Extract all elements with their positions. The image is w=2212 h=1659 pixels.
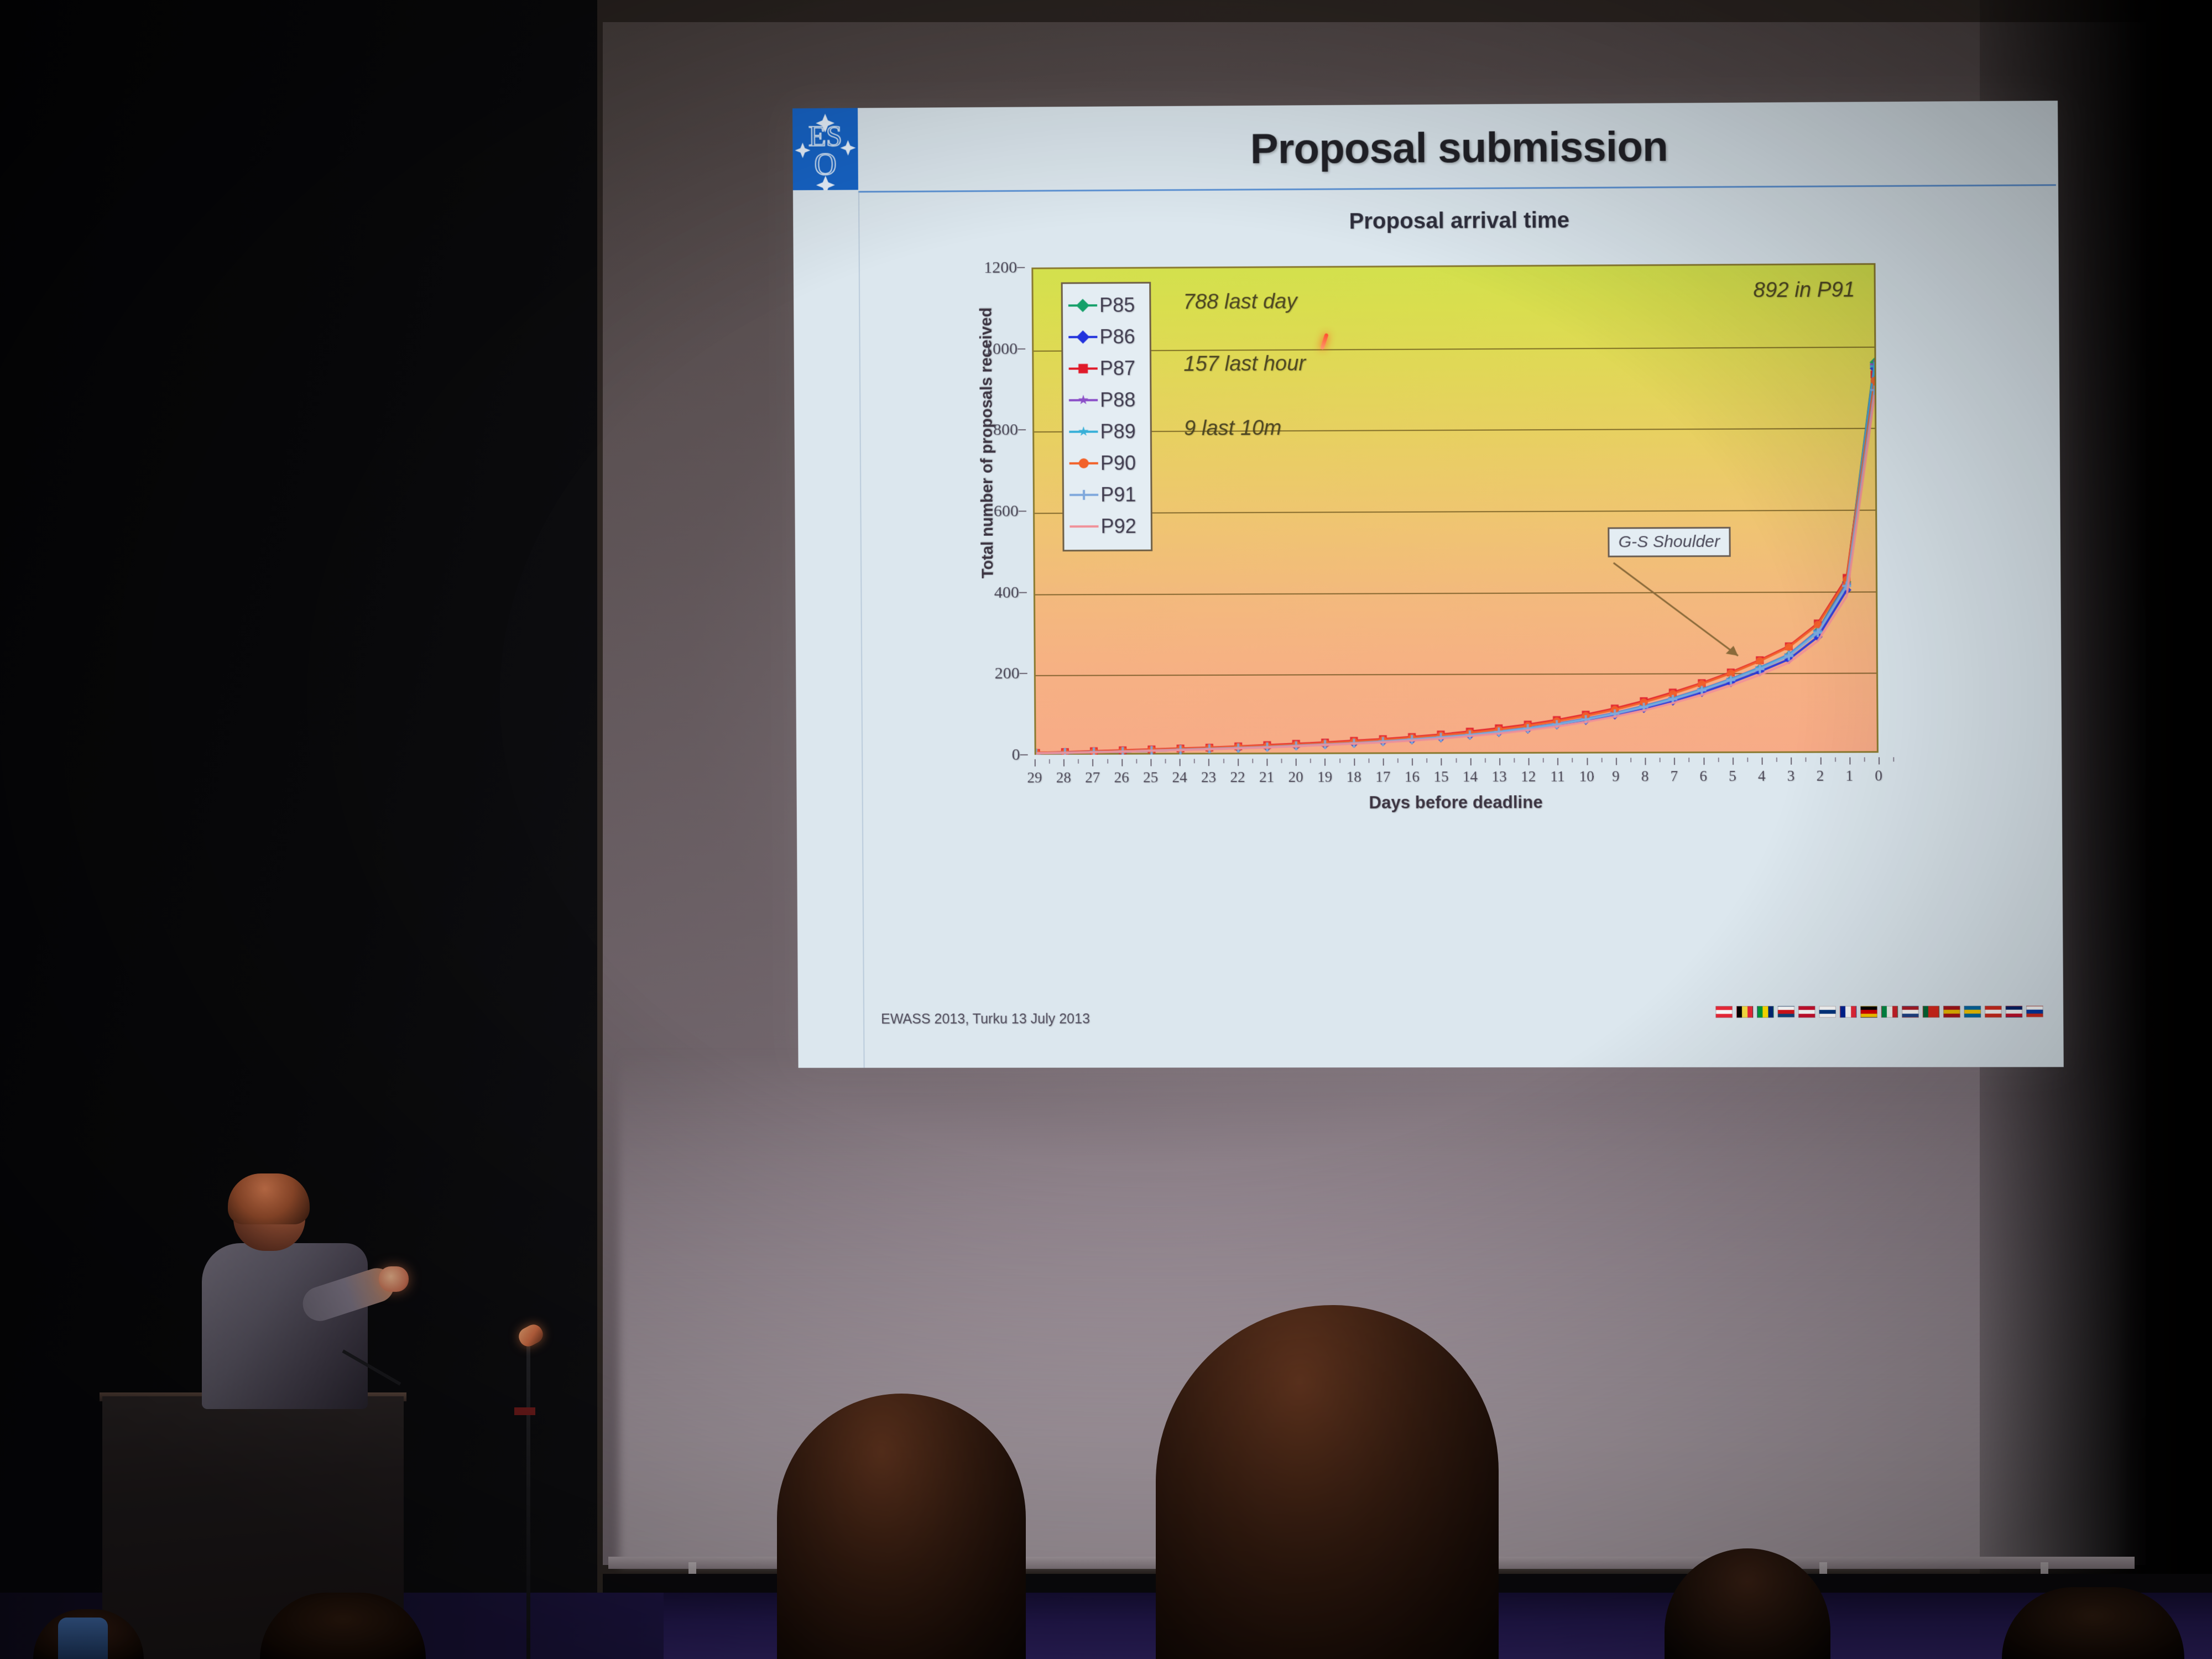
x-tick-mark	[1296, 759, 1297, 766]
y-tick-label: 400	[994, 583, 1019, 602]
series-line-p90	[1034, 380, 1877, 753]
x-tick-mark	[1587, 758, 1588, 765]
x-tick-mark	[1354, 759, 1355, 766]
x-tick-mark	[1035, 759, 1036, 766]
y-tick-mark	[1020, 754, 1028, 755]
x-tick-mark	[1441, 758, 1442, 765]
flag-spain	[1943, 1006, 1960, 1018]
x-tick-mark-minor	[1689, 758, 1690, 762]
x-tick-mark	[1791, 758, 1792, 765]
x-tick-label: 17	[1375, 768, 1390, 785]
x-tick-label: 4	[1758, 768, 1766, 785]
x-tick-mark	[1645, 758, 1646, 765]
x-tick-mark-minor	[1165, 759, 1166, 763]
page-title: Proposal submission	[875, 105, 2046, 190]
chart-area: Total number of proposals received 02004…	[959, 263, 1989, 921]
x-tick-mark	[1412, 758, 1413, 765]
chart-title: Proposal arrival time	[876, 205, 2046, 237]
x-tick-mark-minor	[1252, 759, 1253, 763]
x-tick-mark-minor	[1397, 758, 1399, 763]
audience-head	[1156, 1305, 1499, 1659]
x-tick-mark	[1238, 759, 1239, 766]
x-tick-mark-minor	[1660, 758, 1661, 762]
x-tick-mark	[1470, 758, 1471, 765]
x-tick-label: 22	[1230, 769, 1245, 786]
x-tick-mark	[1674, 758, 1675, 765]
x-tick-label: 19	[1317, 769, 1332, 786]
x-axis-ticks: 2928272625242322212019181716151413121110…	[1035, 757, 1879, 787]
x-tick-mark	[1703, 758, 1704, 765]
x-tick-label: 7	[1671, 768, 1678, 785]
y-tick-label: 1200	[984, 258, 1017, 277]
x-tick-mark	[1180, 759, 1181, 766]
x-tick-mark-minor	[1368, 759, 1369, 763]
x-tick-mark-minor	[1426, 758, 1427, 763]
microphone-stand	[526, 1333, 530, 1659]
flag-austria	[1715, 1006, 1732, 1018]
x-tick-mark	[1121, 759, 1123, 766]
x-tick-mark-minor	[1310, 759, 1311, 763]
series-marker	[1756, 657, 1764, 665]
x-tick-mark-minor	[1136, 759, 1137, 764]
x-tick-mark-minor	[1806, 758, 1807, 762]
x-tick-label: 6	[1699, 768, 1707, 785]
x-tick-mark	[1616, 758, 1617, 765]
y-tick-label: 600	[994, 502, 1019, 520]
x-tick-mark-minor	[1107, 759, 1108, 764]
x-tick-mark-minor	[1194, 759, 1195, 763]
flag-switzerland	[1985, 1006, 2002, 1018]
x-tick-label: 25	[1143, 769, 1158, 786]
x-tick-label: 1	[1845, 768, 1853, 785]
x-tick-mark-minor	[1776, 758, 1777, 762]
x-tick-mark	[1499, 758, 1500, 765]
y-tick-mark	[1018, 348, 1025, 349]
x-tick-label: 16	[1405, 768, 1420, 785]
eso-logo: ES O	[792, 108, 858, 190]
x-tick-mark-minor	[1864, 757, 1865, 761]
series-line-p92	[1034, 395, 1877, 753]
y-tick-mark	[1020, 673, 1027, 674]
x-tick-label: 13	[1491, 768, 1506, 785]
x-tick-mark-minor	[1601, 758, 1602, 762]
x-tick-label: 27	[1085, 769, 1100, 786]
x-tick-mark-minor	[1514, 758, 1515, 763]
y-tick-mark	[1019, 592, 1027, 593]
flag-germany	[1860, 1006, 1877, 1018]
eso-logo-mark: ES O	[792, 108, 858, 190]
x-tick-mark-minor	[1835, 757, 1836, 761]
microphone-stand-clip	[514, 1407, 535, 1415]
water-bottle	[58, 1618, 108, 1659]
y-tick-label: 0	[1011, 745, 1020, 764]
flag-czechia	[1778, 1006, 1794, 1018]
gs-shoulder-callout: G-S Shoulder	[1608, 527, 1730, 557]
series-line-p87	[1034, 374, 1877, 753]
speaker-torso	[202, 1243, 368, 1409]
left-divider	[858, 191, 865, 1068]
series-line-p86	[1034, 368, 1876, 753]
audience-head	[777, 1394, 1026, 1659]
x-tick-mark-minor	[1893, 757, 1894, 761]
slide-footer: EWASS 2013, Turku 13 July 2013	[881, 1011, 1090, 1027]
x-tick-label: 5	[1729, 768, 1736, 785]
x-tick-mark-minor	[1281, 759, 1282, 763]
y-axis-ticks: 020040060080010001200	[959, 268, 1028, 755]
series-curves	[1033, 265, 1877, 755]
x-tick-label: 28	[1056, 769, 1071, 786]
x-tick-label: 10	[1579, 768, 1594, 785]
x-tick-mark-minor	[1747, 758, 1748, 762]
x-tick-mark	[1762, 758, 1763, 765]
flag-brazil	[1757, 1006, 1773, 1018]
x-tick-mark	[1093, 759, 1094, 766]
x-axis-label: Days before deadline	[1035, 792, 1879, 813]
x-tick-mark	[1063, 759, 1065, 766]
presentation-slide: ES O Proposal submission Proposal arriva…	[792, 101, 2064, 1068]
x-tick-label: 0	[1875, 767, 1882, 784]
x-tick-mark-minor	[1485, 758, 1486, 763]
x-tick-label: 8	[1641, 768, 1649, 785]
flag-sweden	[1964, 1006, 1981, 1018]
x-tick-mark-minor	[1630, 758, 1631, 762]
flag-italy	[1881, 1006, 1898, 1018]
x-tick-label: 9	[1612, 768, 1620, 785]
member-state-flags	[1715, 1006, 2043, 1018]
x-tick-mark	[1733, 758, 1734, 765]
x-tick-mark	[1150, 759, 1151, 766]
flag-netherlands	[1902, 1006, 1919, 1018]
y-tick-label: 200	[995, 664, 1020, 683]
series-line-p91	[1034, 390, 1877, 753]
x-tick-label: 23	[1201, 769, 1216, 786]
x-tick-mark	[1557, 758, 1558, 765]
x-tick-mark	[1324, 759, 1326, 766]
x-tick-label: 21	[1259, 769, 1274, 786]
x-tick-label: 18	[1346, 769, 1361, 786]
flag-denmark	[1798, 1006, 1815, 1018]
x-tick-mark	[1820, 758, 1821, 765]
y-tick-label: 1000	[984, 340, 1018, 358]
x-tick-mark-minor	[1223, 759, 1224, 763]
x-tick-mark-minor	[1572, 758, 1573, 763]
flag-belgium	[1736, 1006, 1753, 1018]
x-tick-mark	[1208, 759, 1209, 766]
x-tick-mark-minor	[1543, 758, 1544, 763]
x-tick-label: 2	[1817, 768, 1824, 785]
x-tick-mark-minor	[1718, 758, 1719, 762]
series-line-p89	[1034, 367, 1876, 754]
flag-portugal	[1923, 1006, 1940, 1018]
x-tick-mark-minor	[1455, 758, 1457, 763]
x-tick-label: 12	[1521, 768, 1536, 785]
flag-united-kingdom	[2006, 1006, 2023, 1018]
x-tick-mark	[1879, 757, 1880, 764]
series-marker	[1785, 643, 1793, 651]
x-tick-mark	[1383, 758, 1384, 765]
y-tick-mark	[1019, 510, 1026, 512]
x-tick-mark	[1528, 758, 1530, 765]
x-tick-label: 24	[1172, 769, 1187, 786]
y-tick-mark	[1018, 430, 1026, 431]
x-tick-mark-minor	[1049, 759, 1050, 764]
y-tick-label: 800	[993, 421, 1018, 440]
flag-chile	[2026, 1006, 2043, 1018]
series-line-p88	[1034, 364, 1876, 753]
x-tick-mark-minor	[1339, 759, 1340, 763]
plot-region: P85P86P87P88P89P90P91P92 788 last day 15…	[1031, 263, 1879, 755]
y-tick-mark	[1017, 267, 1025, 268]
speaker-hair	[228, 1173, 310, 1224]
flag-finland	[1819, 1006, 1835, 1018]
x-tick-mark	[1849, 757, 1850, 764]
flag-france	[1840, 1006, 1856, 1018]
x-tick-mark	[1266, 759, 1267, 766]
x-tick-mark-minor	[1078, 759, 1079, 764]
x-tick-label: 20	[1288, 769, 1303, 786]
x-tick-label: 14	[1463, 768, 1478, 785]
x-tick-label: 3	[1787, 768, 1795, 785]
x-tick-label: 15	[1433, 768, 1448, 785]
x-tick-label: 11	[1550, 768, 1564, 785]
speaker-hand	[379, 1266, 409, 1292]
speaker	[199, 1178, 382, 1410]
series-line-p85	[1034, 362, 1876, 753]
x-tick-label: 26	[1114, 769, 1129, 786]
x-tick-label: 29	[1027, 769, 1042, 786]
